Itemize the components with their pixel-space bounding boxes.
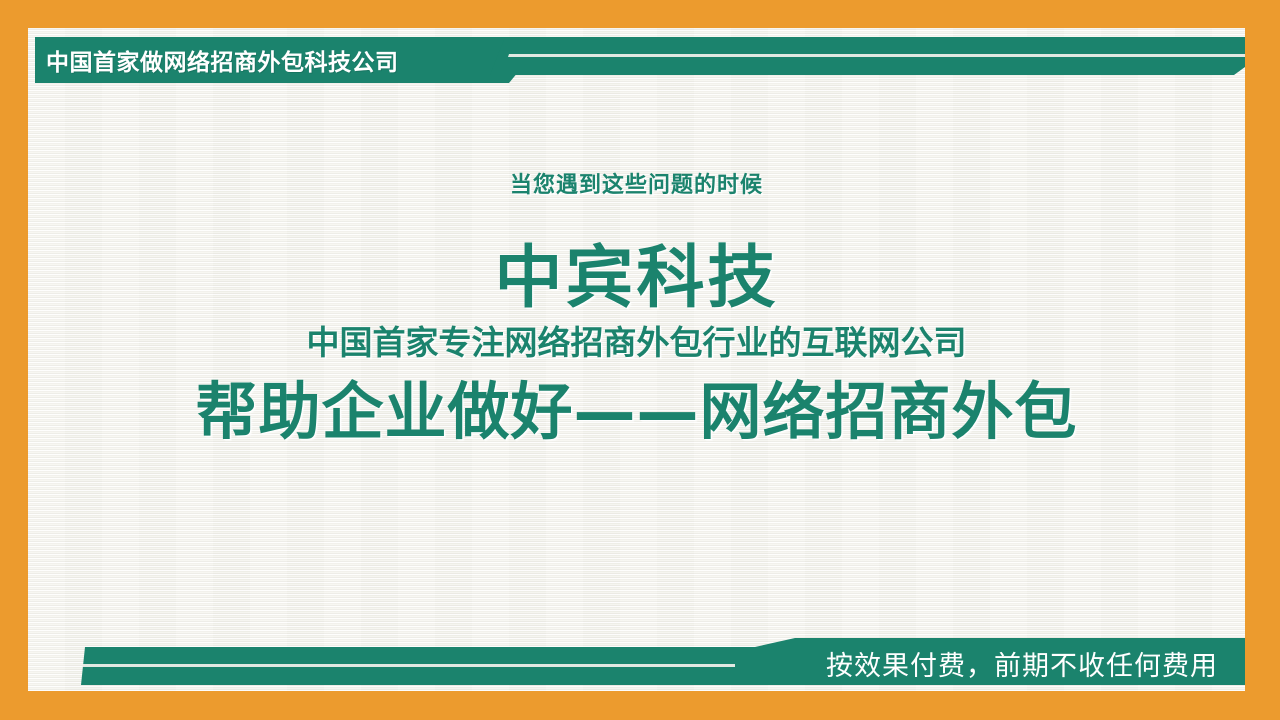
eyebrow-text: 当您遇到这些问题的时候 [28, 167, 1245, 199]
tagline-text: 中国首家专注网络招商外包行业的互联网公司 [28, 316, 1245, 364]
presentation-slide: 中国首家做网络招商外包科技公司 当您遇到这些问题的时候 中宾科技 中国首家专注网… [0, 0, 1280, 720]
brand-title: 中宾科技 [28, 243, 1245, 314]
headline-text: 帮助企业做好——网络招商外包 [28, 361, 1245, 451]
footer-text: 按效果付费，前期不收任何费用 [826, 643, 1245, 683]
slide-content: 当您遇到这些问题的时候 中宾科技 中国首家专注网络招商外包行业的互联网公司 帮助… [28, 28, 1245, 691]
